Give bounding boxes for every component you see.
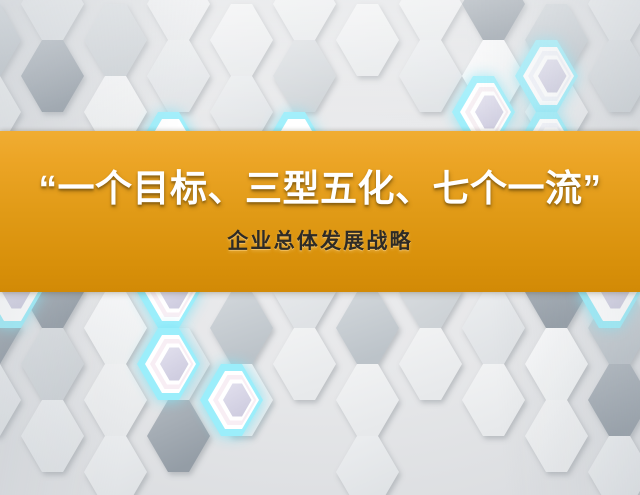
title-banner: “一个目标、三型五化、七个一流” 企业总体发展战略: [0, 131, 640, 292]
banner-subtitle: 企业总体发展战略: [227, 225, 413, 255]
slide-canvas: “一个目标、三型五化、七个一流” 企业总体发展战略: [0, 0, 640, 495]
banner-title: “一个目标、三型五化、七个一流”: [39, 168, 602, 209]
